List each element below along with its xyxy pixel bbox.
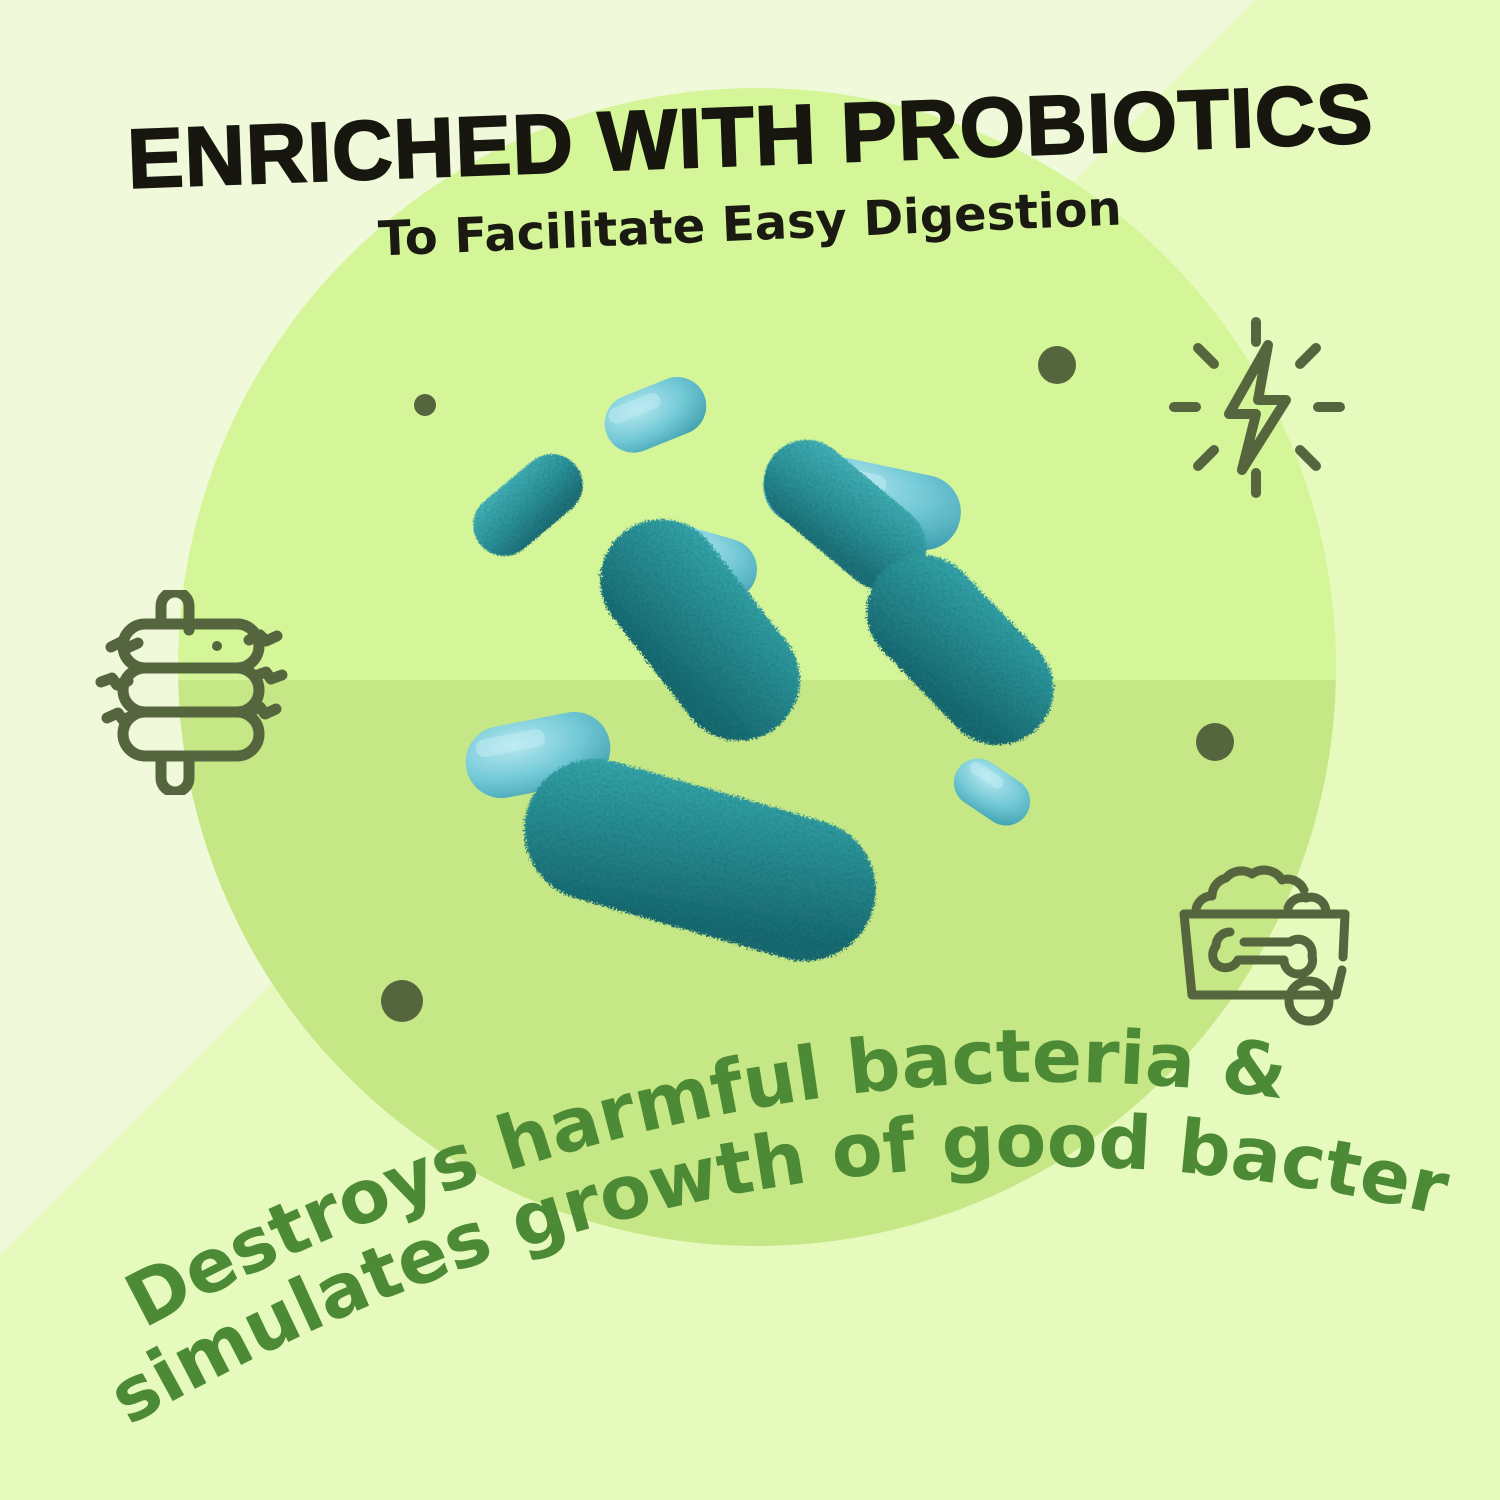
bacterium-rod-5 (576, 495, 825, 766)
subtitle-container: To Facilitate Easy Digestion (0, 196, 1500, 252)
lightning-bolt-icon (1150, 310, 1360, 505)
bacterium-rod-1 (461, 441, 596, 568)
infographic-canvas: ENRICHED WITH PROBIOTICS To Facilitate E… (0, 0, 1500, 1500)
curved-tagline: Destroys harmful bacteria & simulates gr… (0, 1000, 1500, 1500)
bacterium-rod-10 (945, 749, 1040, 835)
bacterium-rod-2 (596, 368, 715, 461)
intestine-icon (85, 590, 295, 795)
headline-container: ENRICHED WITH PROBIOTICS (0, 88, 1500, 185)
bacterium-rod-9 (507, 742, 892, 978)
